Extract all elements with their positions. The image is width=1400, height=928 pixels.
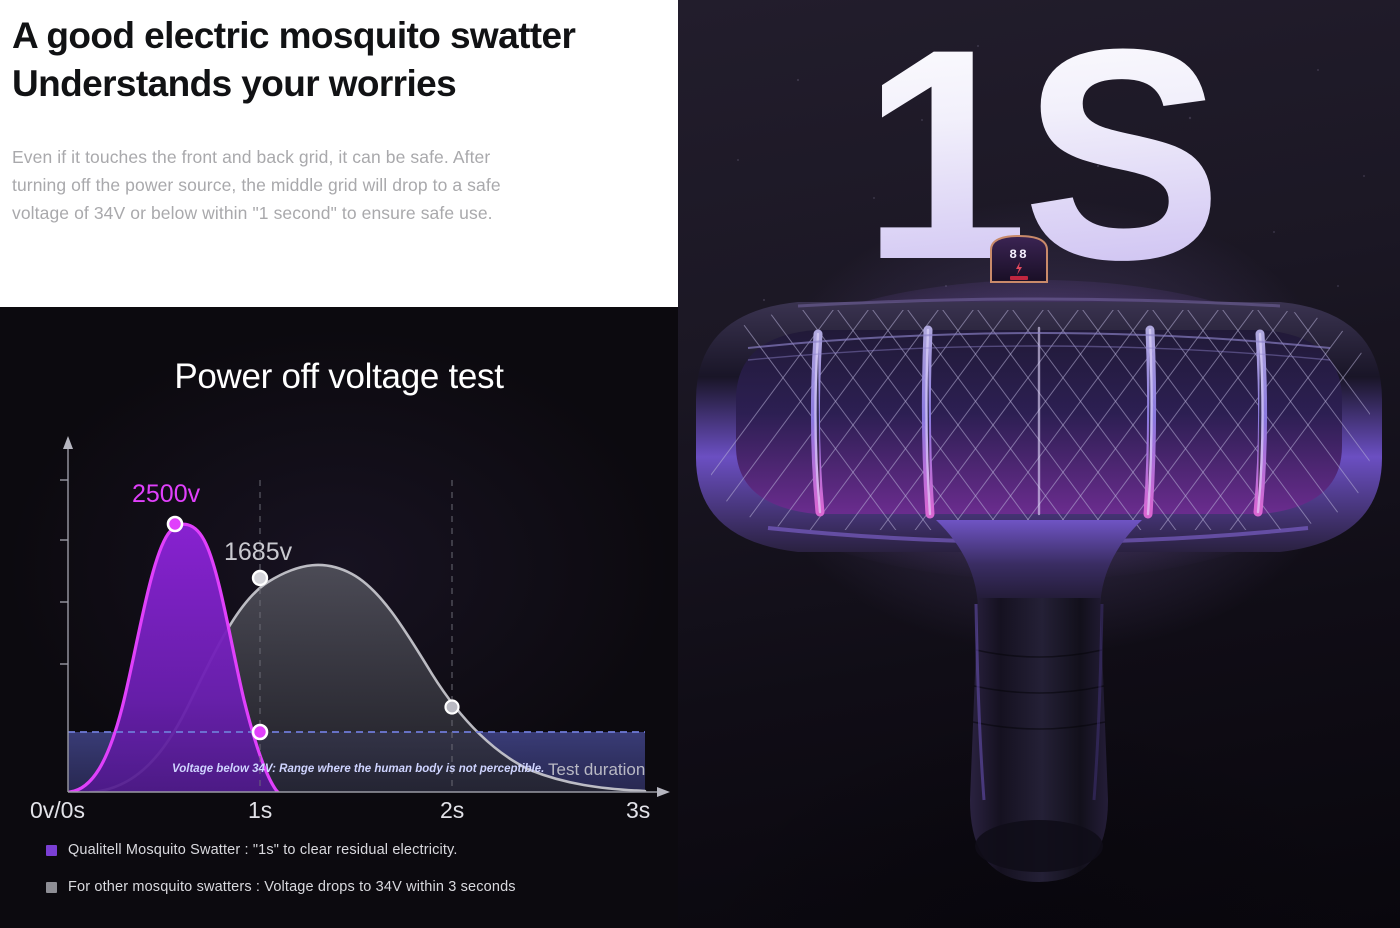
power-display-panel[interactable]: 88	[986, 232, 1052, 286]
chart-panel: Power off voltage test	[0, 307, 678, 928]
voltage-chart: 2500v 1685v Voltage below 34V: Range whe…	[0, 432, 678, 832]
marker-other-2s	[446, 701, 459, 714]
legend-item-other: For other mosquito swatters : Voltage dr…	[46, 879, 666, 895]
legend-item-qualitell: Qualitell Mosquito Swatter : "1s" to cle…	[46, 842, 666, 858]
x-tick-1: 1s	[248, 797, 272, 823]
body-line-1: Even if it touches the front and back gr…	[12, 143, 634, 171]
legend-label-qualitell: Qualitell Mosquito Swatter : "1s" to cle…	[68, 842, 458, 858]
x-axis-arrow	[657, 787, 670, 797]
mosquito-swatter-illustration	[678, 0, 1400, 928]
label-2500v: 2500v	[132, 480, 201, 508]
y-axis	[60, 446, 68, 792]
display-battery-value: 88	[1009, 247, 1029, 262]
headline-line-2: Understands your worries	[12, 60, 652, 108]
marker-peak-2500v	[168, 517, 182, 531]
legend-swatch-icon-purple	[46, 845, 57, 856]
chart-title: Power off voltage test	[0, 357, 678, 397]
legend-label-other: For other mosquito swatters : Voltage dr…	[68, 879, 516, 895]
label-1685v: 1685v	[224, 538, 293, 566]
product-hero-image: 1S	[678, 0, 1400, 928]
x-tick-2: 2s	[440, 797, 464, 823]
headline-line-1: A good electric mosquito swatter	[12, 12, 652, 60]
x-tick-3: 3s	[626, 797, 650, 823]
left-column: A good electric mosquito swatter Underst…	[0, 0, 678, 928]
intro-body-text: Even if it touches the front and back gr…	[12, 143, 634, 227]
intro-card: A good electric mosquito swatter Underst…	[0, 0, 678, 307]
handle-end-cap	[975, 820, 1103, 872]
body-line-2: turning off the power source, the middle…	[12, 171, 634, 199]
marker-other-1685v	[253, 571, 267, 585]
charge-bar-indicator	[1010, 276, 1028, 280]
legend-swatch-icon-gray	[46, 882, 57, 893]
body-line-3: voltage of 34V or below within "1 second…	[12, 199, 634, 227]
marker-qualitell-1s	[253, 725, 267, 739]
x-axis-title: Test duration	[548, 760, 645, 779]
threshold-caption: Voltage below 34V: Range where the human…	[172, 763, 544, 775]
x-tick-0: 0v/0s	[30, 797, 85, 823]
page-title: A good electric mosquito swatter Underst…	[12, 12, 652, 108]
chart-legend: Qualitell Mosquito Swatter : "1s" to cle…	[46, 842, 666, 916]
y-axis-arrow	[63, 436, 73, 449]
product-marketing-page: A good electric mosquito swatter Underst…	[0, 0, 1400, 928]
